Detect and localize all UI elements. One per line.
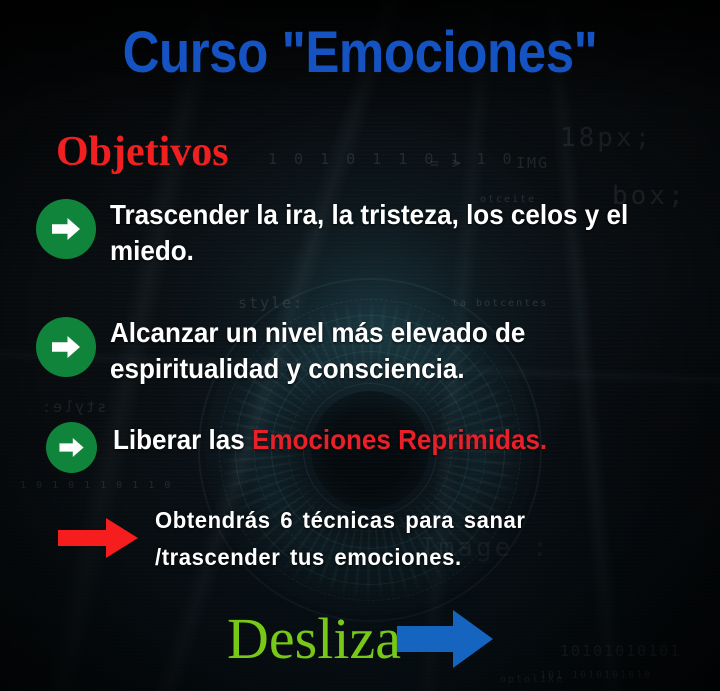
objective-item-label: Alcanzar un nivel más elevado de espirit… <box>110 315 631 388</box>
objective-item-emphasis: Emociones Reprimidas <box>252 424 540 455</box>
red-arrow-right-icon <box>58 502 138 574</box>
blue-arrow-right-icon[interactable] <box>397 608 493 675</box>
cta-label: Desliza <box>227 610 401 668</box>
note-text: Obtendrás 6 técnicas para sanar/trascend… <box>155 502 558 577</box>
section-heading-objetivos: Objetivos <box>56 131 229 173</box>
objective-item-tail: . <box>540 424 547 455</box>
objective-item-label: Liberar las Emociones Reprimidas. <box>113 422 615 458</box>
objective-item: Liberar las Emociones Reprimidas. <box>46 422 653 473</box>
note-item: Obtendrás 6 técnicas para sanar/trascend… <box>58 502 575 577</box>
objective-item-label: Trascender la ira, la tristeza, los celo… <box>110 197 631 270</box>
page-title: Curso "Emociones" <box>43 24 677 82</box>
green-circle-arrow-right-icon <box>36 199 96 259</box>
cta-swipe[interactable]: Desliza <box>0 602 720 675</box>
poster-canvas: 18px; box; IMG otceite ta botcentes 1 0 … <box>0 0 720 691</box>
objective-item-lead: Liberar las <box>113 424 252 455</box>
green-circle-arrow-right-icon <box>36 317 96 377</box>
note-line-1: Obtendrás 6 técnicas para sanar <box>155 507 526 533</box>
green-circle-arrow-right-icon <box>46 422 97 473</box>
poster-content: Curso "Emociones" Objetivos Trascender l… <box>0 0 720 691</box>
objective-item: Trascender la ira, la tristeza, los celo… <box>36 197 670 270</box>
objective-item: Alcanzar un nivel más elevado de espirit… <box>36 315 670 388</box>
note-line-2: /trascender tus emociones. <box>155 544 462 570</box>
